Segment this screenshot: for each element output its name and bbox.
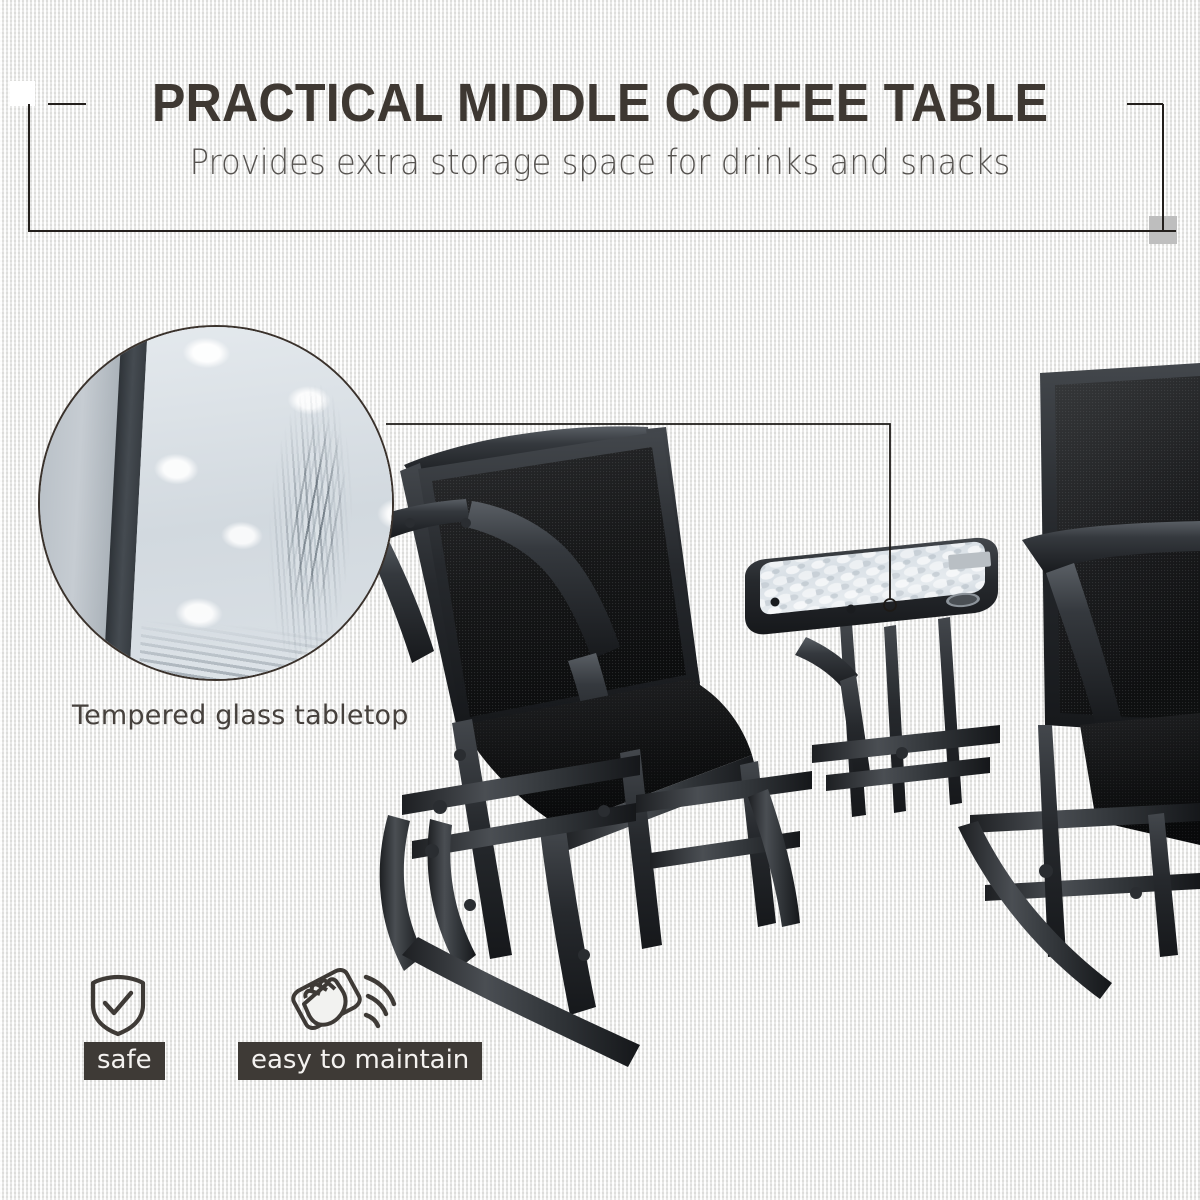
- glider-chair-right: [958, 363, 1200, 999]
- hand-wiping-cloth-icon: [282, 968, 406, 1040]
- badge-label-easy-to-maintain: easy to maintain: [238, 1042, 482, 1080]
- page-title: PRACTICAL MIDDLE COFFEE TABLE: [42, 72, 1158, 134]
- header-corner-square-left: [10, 81, 35, 106]
- header-frame-right: [1162, 104, 1164, 232]
- page-subtitle: Provides extra storage space for drinks …: [48, 143, 1152, 183]
- badge-label-safe: safe: [84, 1042, 165, 1080]
- magnified-detail-circle: [38, 325, 394, 681]
- detail-caption: Tempered glass tabletop: [72, 700, 409, 731]
- shield-check-icon: [86, 972, 150, 1038]
- header-frame-bottom: [28, 230, 1176, 232]
- glider-chair-left: [364, 426, 812, 1067]
- product-feature-banner: PRACTICAL MIDDLE COFFEE TABLE Provides e…: [0, 0, 1200, 1200]
- header-frame-left: [28, 104, 30, 232]
